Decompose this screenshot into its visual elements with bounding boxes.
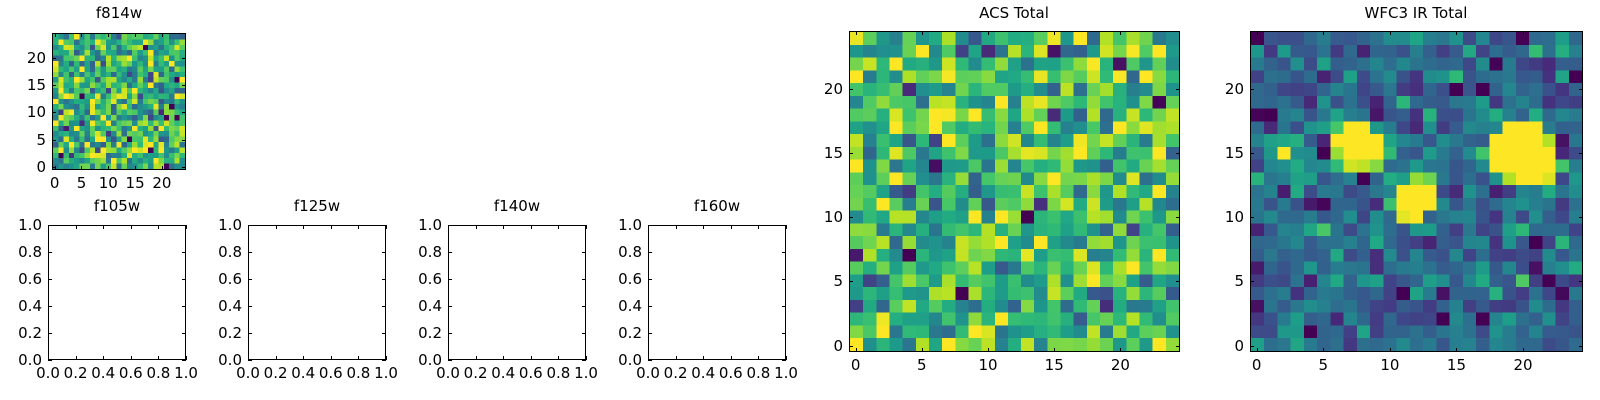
xtick-label: 15 bbox=[126, 174, 145, 192]
xtick-label: 0.8 bbox=[546, 364, 570, 382]
xtick-label: 0.8 bbox=[746, 364, 770, 382]
xtick-mark-top bbox=[135, 33, 136, 37]
xtick-mark bbox=[135, 166, 136, 170]
ytick-label: 0 bbox=[0, 158, 46, 176]
ytick-mark-right bbox=[1579, 346, 1583, 347]
subplot-title-f814w: f814w bbox=[0, 6, 269, 21]
xtick-label: 20 bbox=[1514, 356, 1533, 374]
ytick-label: 0.6 bbox=[584, 270, 642, 288]
ytick-mark-right bbox=[1579, 89, 1583, 90]
xtick-mark-top bbox=[676, 225, 677, 229]
ytick-label: 15 bbox=[0, 76, 46, 94]
ytick-mark-right bbox=[182, 167, 186, 168]
xtick-mark-top bbox=[1523, 31, 1524, 35]
ytick-mark-right bbox=[1579, 153, 1583, 154]
xtick-mark-top bbox=[1257, 31, 1258, 35]
ytick-mark bbox=[48, 333, 52, 334]
ytick-mark-right bbox=[1176, 153, 1180, 154]
xtick-label: 0.6 bbox=[519, 364, 543, 382]
ytick-mark bbox=[448, 360, 452, 361]
ytick-label: 20 bbox=[0, 49, 46, 67]
xtick-label: 20 bbox=[152, 174, 171, 192]
ytick-label: 0.8 bbox=[384, 243, 442, 261]
xtick-label: 10 bbox=[99, 174, 118, 192]
xtick-mark-top bbox=[81, 33, 82, 37]
ytick-mark bbox=[52, 85, 56, 86]
ytick-label: 10 bbox=[1186, 208, 1244, 226]
ytick-label: 0 bbox=[785, 337, 843, 355]
xtick-mark-top bbox=[358, 225, 359, 229]
xtick-mark bbox=[81, 166, 82, 170]
xtick-label: 0.2 bbox=[464, 364, 488, 382]
xtick-mark-top bbox=[158, 225, 159, 229]
ytick-label: 1.0 bbox=[0, 216, 42, 234]
xtick-label: 5 bbox=[1318, 356, 1328, 374]
xtick-mark bbox=[1054, 348, 1055, 352]
ytick-mark bbox=[52, 112, 56, 113]
ytick-label: 0.4 bbox=[384, 297, 442, 315]
xtick-label: 0.4 bbox=[291, 364, 315, 382]
ytick-mark bbox=[849, 217, 853, 218]
ytick-mark bbox=[48, 225, 52, 226]
xtick-mark bbox=[1120, 348, 1121, 352]
xtick-label: 15 bbox=[1447, 356, 1466, 374]
ytick-label: 1.0 bbox=[384, 216, 442, 234]
ytick-mark-right bbox=[1176, 89, 1180, 90]
ytick-mark bbox=[448, 279, 452, 280]
ytick-mark bbox=[248, 306, 252, 307]
axes-f140w bbox=[448, 225, 586, 360]
xtick-mark bbox=[786, 356, 787, 360]
ytick-label: 0.4 bbox=[0, 297, 42, 315]
xtick-mark bbox=[1257, 348, 1258, 352]
ytick-label: 0.2 bbox=[384, 324, 442, 342]
ytick-mark bbox=[248, 360, 252, 361]
xtick-mark-top bbox=[1390, 31, 1391, 35]
xtick-mark bbox=[358, 356, 359, 360]
xtick-label: 0.4 bbox=[491, 364, 515, 382]
ytick-mark bbox=[648, 333, 652, 334]
ytick-label: 1.0 bbox=[184, 216, 242, 234]
ytick-mark bbox=[248, 279, 252, 280]
ytick-label: 20 bbox=[785, 80, 843, 98]
xtick-mark-top bbox=[558, 225, 559, 229]
ytick-label: 0.6 bbox=[0, 270, 42, 288]
ytick-mark bbox=[849, 346, 853, 347]
ytick-mark bbox=[849, 89, 853, 90]
ytick-mark bbox=[1250, 217, 1254, 218]
ytick-label: 0.2 bbox=[584, 324, 642, 342]
ytick-mark bbox=[648, 252, 652, 253]
xtick-mark bbox=[758, 356, 759, 360]
subplot-title-wfc3-ir-total: WFC3 IR Total bbox=[1266, 6, 1566, 21]
xtick-mark bbox=[476, 356, 477, 360]
ytick-label: 0.8 bbox=[584, 243, 642, 261]
ytick-mark bbox=[1250, 89, 1254, 90]
ytick-mark-right bbox=[782, 252, 786, 253]
ytick-label: 0.2 bbox=[184, 324, 242, 342]
ytick-mark-right bbox=[1579, 217, 1583, 218]
heatmap-f814w bbox=[53, 34, 185, 169]
ytick-mark bbox=[52, 167, 56, 168]
ytick-mark bbox=[52, 140, 56, 141]
xtick-label: 10 bbox=[1380, 356, 1399, 374]
ytick-mark bbox=[448, 333, 452, 334]
xtick-mark-top bbox=[856, 31, 857, 35]
xtick-mark-top bbox=[988, 31, 989, 35]
ytick-mark bbox=[448, 225, 452, 226]
xtick-mark-top bbox=[1054, 31, 1055, 35]
heatmap-acs-total bbox=[850, 32, 1179, 351]
ytick-label: 0.4 bbox=[184, 297, 242, 315]
ytick-label: 5 bbox=[785, 272, 843, 290]
ytick-mark-right bbox=[182, 58, 186, 59]
xtick-mark-top bbox=[162, 33, 163, 37]
xtick-label: 0 bbox=[1252, 356, 1262, 374]
xtick-mark bbox=[276, 356, 277, 360]
xtick-label: 0.8 bbox=[346, 364, 370, 382]
ytick-mark bbox=[1250, 346, 1254, 347]
xtick-mark bbox=[922, 348, 923, 352]
ytick-label: 0.0 bbox=[184, 351, 242, 369]
xtick-label: 0.4 bbox=[691, 364, 715, 382]
ytick-mark bbox=[248, 252, 252, 253]
xtick-mark-top bbox=[703, 225, 704, 229]
xtick-label: 5 bbox=[77, 174, 87, 192]
ytick-mark-right bbox=[1579, 281, 1583, 282]
xtick-mark-top bbox=[1323, 31, 1324, 35]
xtick-mark-top bbox=[503, 225, 504, 229]
xtick-label: 0.2 bbox=[64, 364, 88, 382]
xtick-label: 0 bbox=[851, 356, 861, 374]
xtick-mark-top bbox=[276, 225, 277, 229]
ytick-mark bbox=[1250, 153, 1254, 154]
xtick-mark bbox=[558, 356, 559, 360]
ytick-mark bbox=[648, 306, 652, 307]
xtick-label: 0.6 bbox=[719, 364, 743, 382]
ytick-mark-right bbox=[1176, 217, 1180, 218]
xtick-label: 0.4 bbox=[91, 364, 115, 382]
xtick-mark-top bbox=[731, 225, 732, 229]
ytick-label: 1.0 bbox=[584, 216, 642, 234]
ytick-label: 5 bbox=[0, 131, 46, 149]
xtick-mark bbox=[531, 356, 532, 360]
xtick-label: 0.6 bbox=[119, 364, 143, 382]
xtick-mark-top bbox=[108, 33, 109, 37]
xtick-label: 5 bbox=[917, 356, 927, 374]
ytick-mark bbox=[52, 58, 56, 59]
xtick-mark-top bbox=[103, 225, 104, 229]
heatmap-wfc3-ir-total bbox=[1251, 32, 1582, 351]
ytick-mark bbox=[248, 225, 252, 226]
xtick-mark bbox=[676, 356, 677, 360]
xtick-mark-top bbox=[531, 225, 532, 229]
ytick-mark bbox=[1250, 281, 1254, 282]
xtick-label: 1.0 bbox=[774, 364, 798, 382]
xtick-mark-top bbox=[76, 225, 77, 229]
xtick-mark bbox=[988, 348, 989, 352]
xtick-mark bbox=[103, 356, 104, 360]
xtick-label: 0.2 bbox=[264, 364, 288, 382]
xtick-mark bbox=[503, 356, 504, 360]
ytick-mark bbox=[48, 252, 52, 253]
xtick-label: 0.6 bbox=[319, 364, 343, 382]
xtick-label: 10 bbox=[978, 356, 997, 374]
xtick-mark bbox=[303, 356, 304, 360]
ytick-mark bbox=[248, 333, 252, 334]
subplot-title-acs-total: ACS Total bbox=[864, 6, 1164, 21]
ytick-label: 0.0 bbox=[384, 351, 442, 369]
ytick-mark bbox=[648, 225, 652, 226]
xtick-mark-top bbox=[55, 33, 56, 37]
xtick-mark bbox=[1323, 348, 1324, 352]
ytick-label: 0.2 bbox=[0, 324, 42, 342]
axes-f105w bbox=[48, 225, 186, 360]
xtick-mark bbox=[1456, 348, 1457, 352]
xtick-mark-top bbox=[131, 225, 132, 229]
xtick-mark-top bbox=[1120, 31, 1121, 35]
ytick-mark-right bbox=[182, 85, 186, 86]
xtick-mark bbox=[331, 356, 332, 360]
ytick-mark-right bbox=[182, 140, 186, 141]
xtick-mark bbox=[131, 356, 132, 360]
xtick-mark bbox=[108, 166, 109, 170]
ytick-label: 15 bbox=[1186, 144, 1244, 162]
xtick-mark bbox=[703, 356, 704, 360]
xtick-mark bbox=[1390, 348, 1391, 352]
ytick-mark-right bbox=[782, 360, 786, 361]
xtick-mark bbox=[856, 348, 857, 352]
xtick-label: 15 bbox=[1045, 356, 1064, 374]
ytick-mark-right bbox=[182, 112, 186, 113]
xtick-mark-top bbox=[922, 31, 923, 35]
ytick-mark bbox=[849, 153, 853, 154]
ytick-mark-right bbox=[782, 333, 786, 334]
axes-f125w bbox=[248, 225, 386, 360]
xtick-mark bbox=[158, 356, 159, 360]
xtick-label: 0.8 bbox=[146, 364, 170, 382]
ytick-label: 0.0 bbox=[0, 351, 42, 369]
xtick-mark-top bbox=[1456, 31, 1457, 35]
ytick-mark bbox=[48, 360, 52, 361]
xtick-mark bbox=[1523, 348, 1524, 352]
ytick-label: 0.6 bbox=[384, 270, 442, 288]
ytick-label: 20 bbox=[1186, 80, 1244, 98]
ytick-mark bbox=[849, 281, 853, 282]
ytick-label: 0.8 bbox=[0, 243, 42, 261]
xtick-label: 0.2 bbox=[664, 364, 688, 382]
ytick-mark bbox=[648, 360, 652, 361]
ytick-mark-right bbox=[1176, 281, 1180, 282]
xtick-mark-top bbox=[331, 225, 332, 229]
ytick-label: 0.6 bbox=[184, 270, 242, 288]
ytick-mark bbox=[48, 306, 52, 307]
ytick-label: 10 bbox=[0, 103, 46, 121]
ytick-label: 0.4 bbox=[584, 297, 642, 315]
xtick-mark bbox=[731, 356, 732, 360]
xtick-mark-top bbox=[303, 225, 304, 229]
ytick-label: 0 bbox=[1186, 337, 1244, 355]
ytick-mark bbox=[448, 252, 452, 253]
ytick-label: 10 bbox=[785, 208, 843, 226]
ytick-mark-right bbox=[782, 306, 786, 307]
ytick-label: 0.0 bbox=[584, 351, 642, 369]
xtick-mark bbox=[162, 166, 163, 170]
xtick-label: 0 bbox=[50, 174, 60, 192]
ytick-label: 5 bbox=[1186, 272, 1244, 290]
xtick-mark bbox=[76, 356, 77, 360]
ytick-label: 15 bbox=[785, 144, 843, 162]
xtick-mark-top bbox=[476, 225, 477, 229]
ytick-label: 0.8 bbox=[184, 243, 242, 261]
xtick-mark-top bbox=[758, 225, 759, 229]
ytick-mark bbox=[648, 279, 652, 280]
ytick-mark bbox=[448, 306, 452, 307]
axes-f160w bbox=[648, 225, 786, 360]
ytick-mark-right bbox=[1176, 346, 1180, 347]
xtick-label: 20 bbox=[1111, 356, 1130, 374]
ytick-mark bbox=[48, 279, 52, 280]
